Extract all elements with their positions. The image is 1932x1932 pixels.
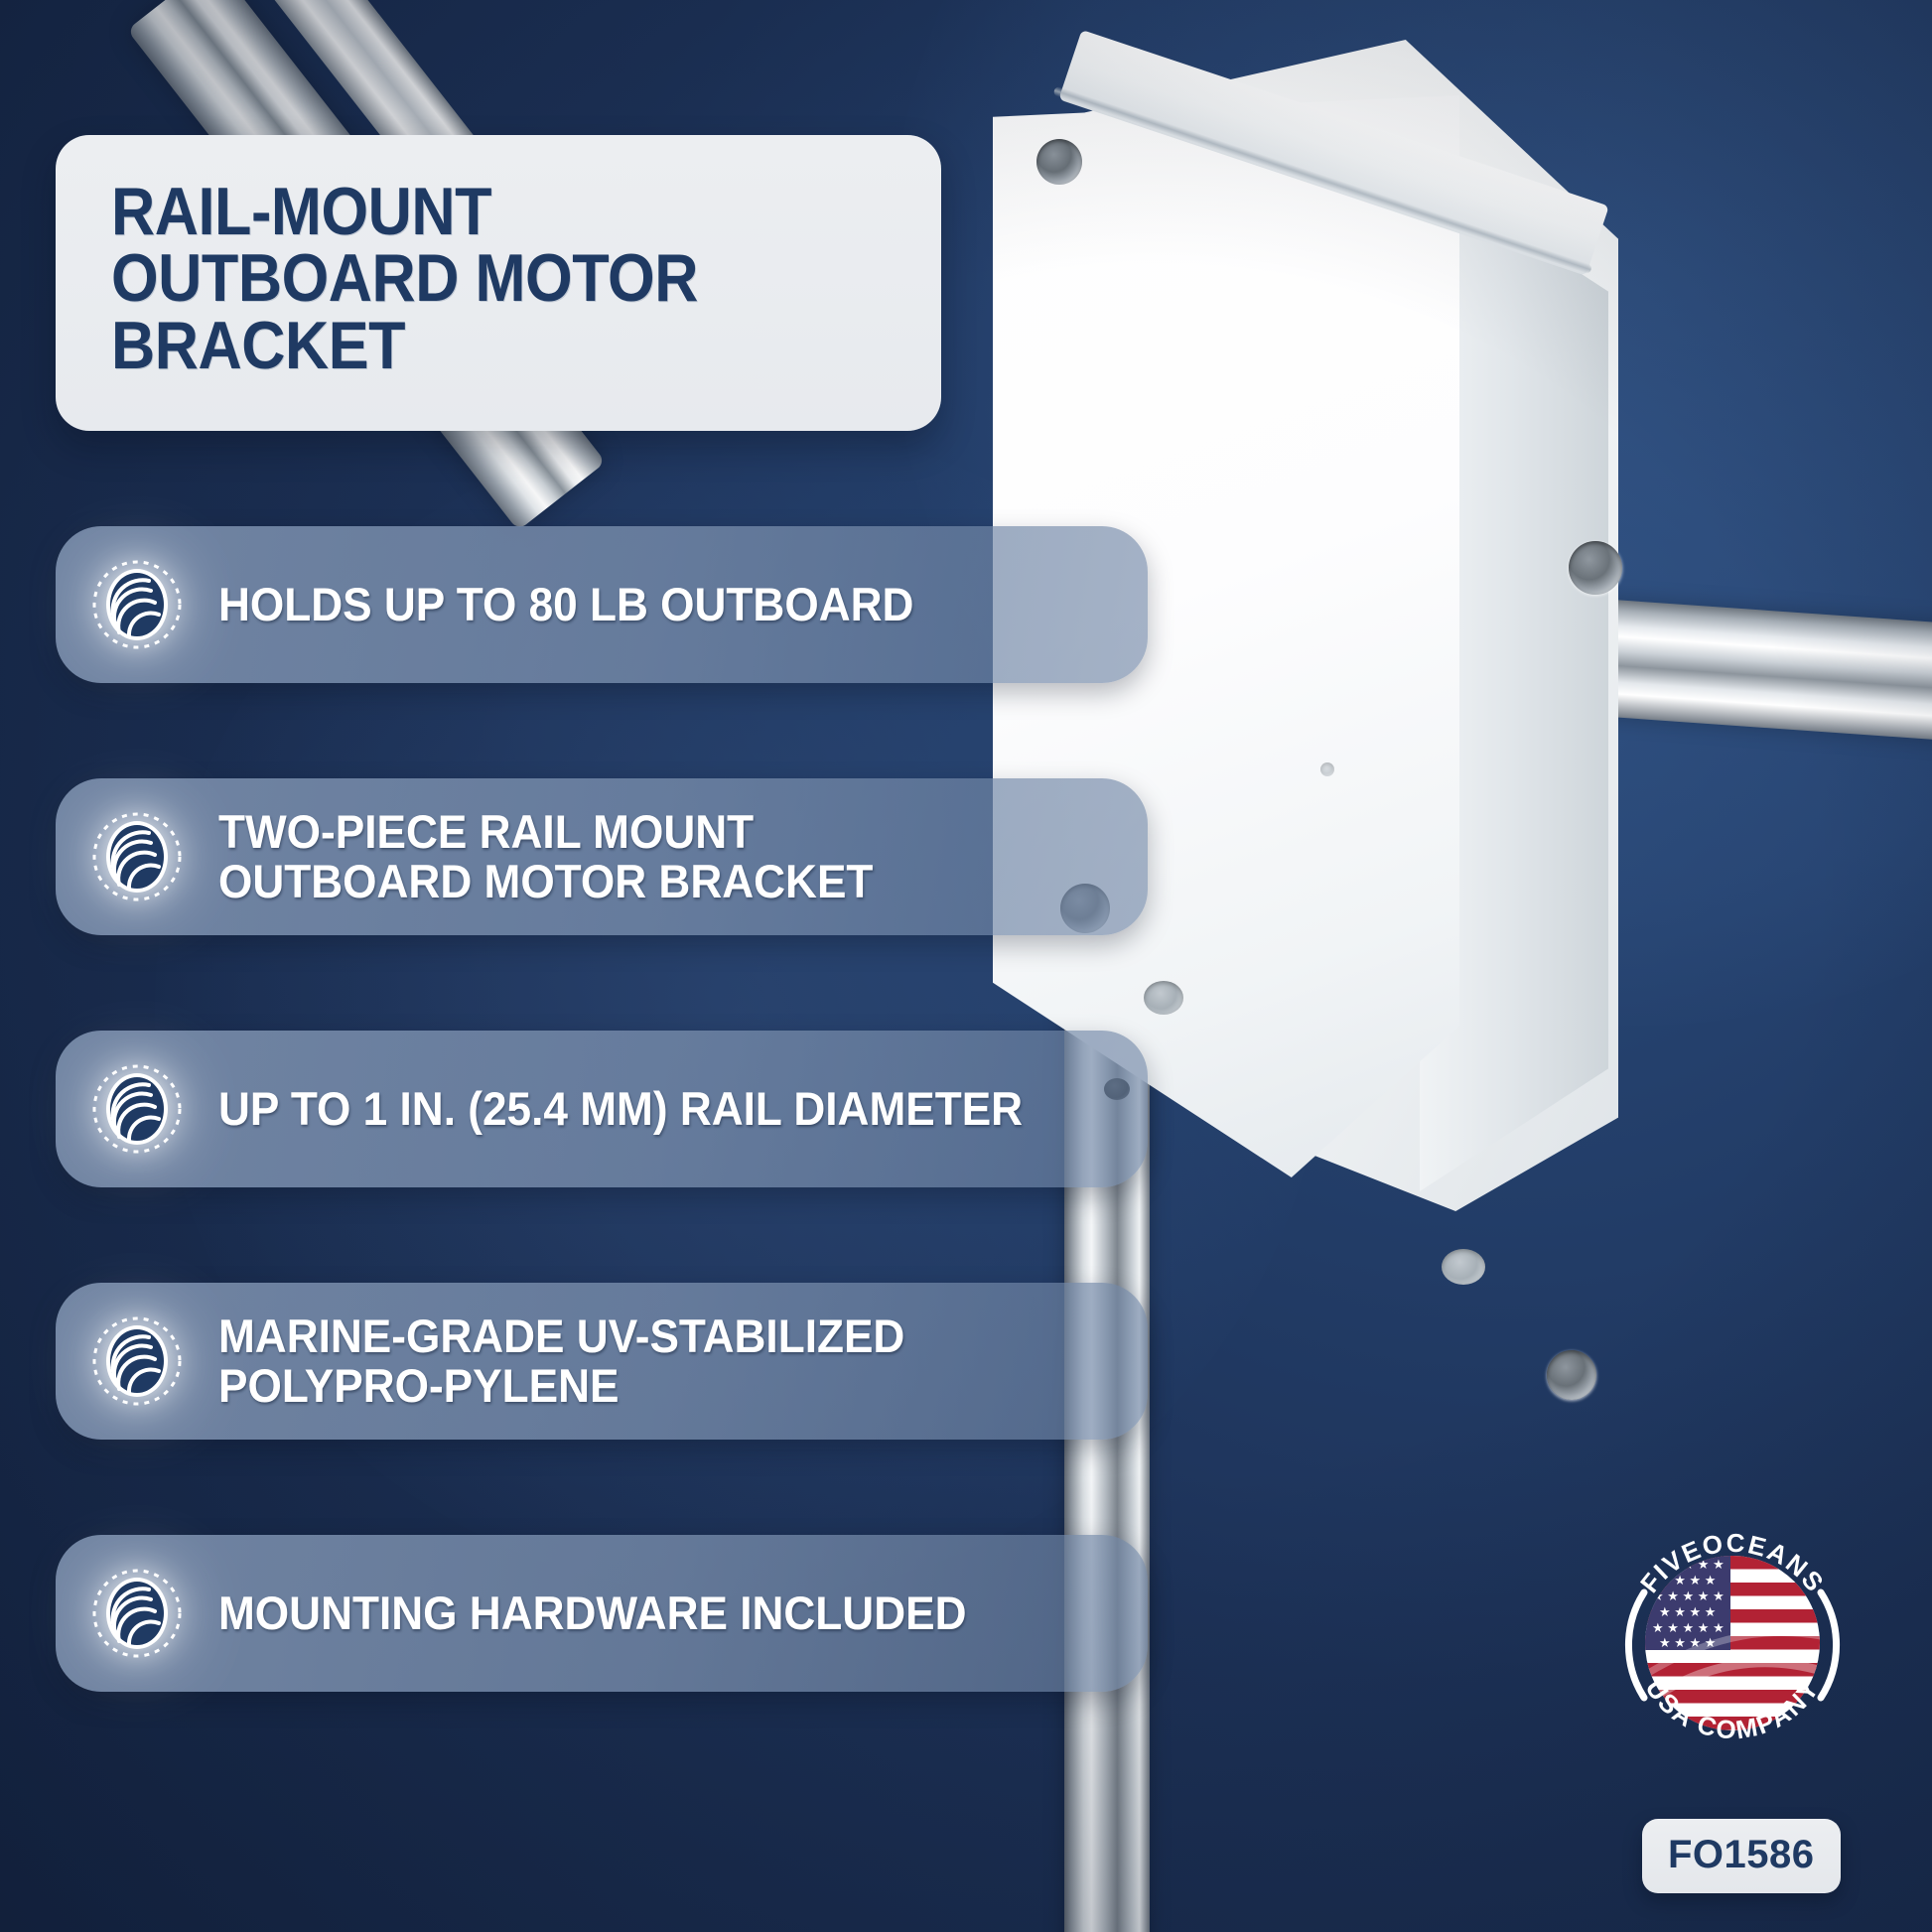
product-infographic: RAIL-MOUNT OUTBOARD MOTOR BRACKET HOLDS … xyxy=(0,0,1932,1932)
badge-arc-right xyxy=(1821,1592,1837,1698)
feature-row-5: MOUNTING HARDWARE INCLUDED xyxy=(56,1535,1148,1692)
wave-badge-icon xyxy=(89,1313,185,1409)
feature-row-1: HOLDS UP TO 80 LB OUTBOARD xyxy=(56,526,1148,683)
feature-label: HOLDS UP TO 80 LB OUTBOARD xyxy=(218,580,913,629)
wave-badge-icon xyxy=(89,809,185,904)
wave-badge-icon xyxy=(89,557,185,652)
badge-arc-left xyxy=(1628,1592,1644,1698)
feature-label: TWO-PIECE RAIL MOUNT OUTBOARD MOTOR BRAC… xyxy=(218,807,873,906)
usa-company-badge: ★ ★ ★ ★ ★ ★ ★ ★ ★ ★ ★ ★ ★ ★ ★ ★ ★ ★ ★ ★ … xyxy=(1608,1517,1857,1765)
title-card: RAIL-MOUNT OUTBOARD MOTOR BRACKET xyxy=(56,135,941,431)
feature-row-3: UP TO 1 IN. (25.4 MM) RAIL DIAMETER xyxy=(56,1031,1148,1187)
feature-label: UP TO 1 IN. (25.4 MM) RAIL DIAMETER xyxy=(218,1084,1023,1134)
feature-label: MARINE-GRADE UV-STABILIZED POLYPRO-PYLEN… xyxy=(218,1311,904,1411)
feature-list: HOLDS UP TO 80 LB OUTBOARD TWO-PIECE RAI… xyxy=(56,526,1148,1692)
feature-label: MOUNTING HARDWARE INCLUDED xyxy=(218,1588,966,1638)
svg-text:★ ★ ★ ★: ★ ★ ★ ★ xyxy=(1659,1604,1716,1619)
wave-badge-icon xyxy=(89,1566,185,1661)
feature-row-4: MARINE-GRADE UV-STABILIZED POLYPRO-PYLEN… xyxy=(56,1283,1148,1440)
wave-badge-icon xyxy=(89,1061,185,1157)
page-title: RAIL-MOUNT OUTBOARD MOTOR BRACKET xyxy=(111,179,808,379)
sku-badge: FO1586 xyxy=(1642,1819,1841,1893)
feature-row-2: TWO-PIECE RAIL MOUNT OUTBOARD MOTOR BRAC… xyxy=(56,778,1148,935)
svg-text:★ ★ ★ ★ ★: ★ ★ ★ ★ ★ xyxy=(1652,1620,1725,1635)
